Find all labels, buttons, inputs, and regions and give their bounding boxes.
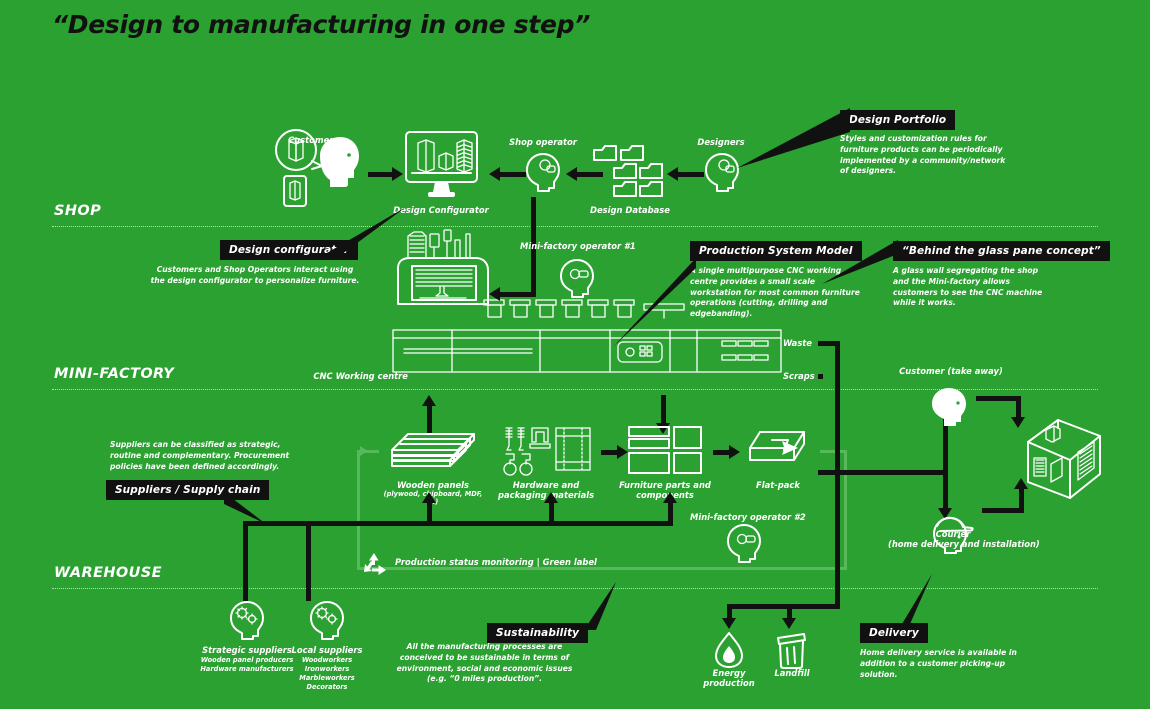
customer-to-house-h	[976, 396, 1021, 401]
customer-to-house-head	[1011, 417, 1025, 428]
cnc-conveyor-base	[392, 329, 782, 373]
delivery-to-courier-v	[943, 470, 948, 512]
mini-factory-operator-1-icon	[555, 256, 597, 300]
customer-takeaway-label: Customer (take away)	[896, 366, 1006, 376]
callout-design-portfolio: Design Portfolio Styles and customizatio…	[840, 108, 1010, 177]
infographic-canvas: “Design to manufacturing in one step” SH…	[0, 0, 1150, 709]
supplier-strategic-v	[243, 521, 248, 601]
zone-divider-shop	[52, 226, 1098, 227]
supplier-to-panels-v	[427, 500, 432, 526]
scraps-line-h	[818, 374, 823, 379]
wooden-panels-icon	[388, 428, 478, 476]
callout-delivery-pointer	[900, 572, 934, 626]
strategic-suppliers-line-2: Hardware manufacturers	[198, 665, 296, 673]
arrow-config-to-cnc-h	[500, 292, 536, 297]
hardware-packaging-label-1: Hardware and	[498, 480, 594, 490]
zone-label-shop: SHOP	[54, 203, 101, 219]
landfill-label: Landfill	[762, 668, 822, 678]
callout-design-configurator-body: Customers and Shop Operators interact us…	[150, 265, 360, 287]
cnc-label: CNC Working centre	[298, 371, 408, 381]
supplier-to-parts-head	[663, 492, 677, 503]
recycle-icon	[361, 552, 389, 578]
supply-loop-bottom-h	[357, 567, 847, 570]
shop-operator-icon	[521, 150, 563, 194]
courier-label-2: (home delivery and installation)	[888, 539, 1018, 549]
scraps-label: Scraps	[783, 371, 833, 381]
callout-sustainability-pointer	[570, 580, 618, 632]
strategic-suppliers-label: Strategic suppliers	[202, 645, 292, 655]
local-suppliers-line-2: Ironworkers	[286, 665, 368, 673]
customer-takeaway-icon	[928, 385, 970, 427]
shop-operator-label: Shop operator	[498, 137, 588, 147]
energy-production-icon	[710, 630, 748, 670]
arrow-operator-to-configurator-head	[489, 167, 500, 181]
local-suppliers-line-4: Decorators	[286, 683, 368, 691]
arrow-customer-to-configurator-line	[368, 172, 394, 177]
wooden-panels-label: Wooden panels	[383, 480, 483, 490]
mini-factory-operator-2-label: Mini-factory operator #2	[690, 512, 800, 522]
furniture-parts-icon	[627, 425, 703, 477]
mini-factory-operator-2-icon	[722, 521, 764, 565]
production-status-monitoring-label: Production status monitoring | Green lab…	[395, 557, 615, 567]
design-database-icon	[592, 142, 664, 200]
customer-label: Customer	[288, 135, 378, 145]
callout-production-system-model-pointer	[612, 256, 698, 348]
design-configurator-icon	[404, 130, 479, 202]
arrow-database-to-operator-head	[566, 167, 577, 181]
callout-design-portfolio-title: Design Portfolio	[840, 110, 955, 130]
callout-sustainability-body: All the manufacturing processes are conc…	[392, 642, 577, 685]
courier-to-house-h	[982, 508, 1024, 513]
supply-loop-left-v	[357, 450, 360, 570]
callout-design-portfolio-pointer	[735, 106, 850, 168]
supplier-to-parts-v	[668, 500, 673, 526]
callout-design-portfolio-body: Styles and customization rules for furni…	[840, 134, 1010, 177]
callout-glass-pane-body: A glass wall segregating the shop and th…	[893, 266, 1051, 309]
courier-label-1: Courier	[898, 529, 1008, 539]
supply-loop-entry-h	[357, 450, 379, 453]
callout-delivery-body: Home delivery service is available in ad…	[860, 648, 1045, 680]
energy-production-label-2: production	[696, 678, 762, 688]
arrow-cnc-to-parts-line	[661, 395, 666, 425]
zone-label-mini-factory: MINI-FACTORY	[54, 366, 174, 382]
callout-delivery-title: Delivery	[860, 623, 928, 643]
supplier-local-v	[306, 521, 311, 601]
callout-delivery: Delivery Home delivery service is availa…	[860, 621, 1045, 680]
strategic-suppliers-icon	[224, 598, 268, 642]
mini-factory-operator-1-label: Mini-factory operator #1	[520, 241, 635, 251]
local-suppliers-icon	[304, 598, 348, 642]
arrow-panels-to-cnc-head	[422, 395, 436, 406]
supplier-to-hardware-v	[549, 500, 554, 526]
callout-glass-pane-pointer	[820, 236, 900, 286]
flat-pack-label: Flat-pack	[738, 480, 818, 490]
callout-glass-pane: “Behind the glass pane concept” A glass …	[893, 239, 1051, 309]
supply-loop-top-h	[820, 450, 847, 453]
flat-pack-icon	[744, 428, 812, 476]
landfill-icon	[772, 628, 810, 670]
arrow-parts-to-flatpack-head	[729, 445, 740, 459]
local-suppliers-line-1: Woodworkers	[286, 656, 368, 664]
energy-production-label-1: Energy	[696, 668, 762, 678]
arrow-designers-to-database-head	[667, 167, 678, 181]
energy-drop-head	[722, 618, 736, 629]
suppliers-note: Suppliers can be classified as strategic…	[110, 440, 290, 472]
zone-label-warehouse: WAREHOUSE	[54, 565, 162, 581]
page-title: “Design to manufacturing in one step”	[52, 10, 590, 39]
hardware-packaging-icon	[500, 424, 592, 478]
local-suppliers-line-3: Marbleworkers	[286, 674, 368, 682]
supplier-to-hardware-head	[544, 492, 558, 503]
callout-glass-pane-title: “Behind the glass pane concept”	[893, 241, 1110, 261]
supplier-to-panels-head	[422, 492, 436, 503]
house-icon	[1024, 408, 1104, 498]
waste-line-v	[835, 341, 840, 609]
supply-loop-right-v	[844, 450, 847, 570]
arrow-customer-to-configurator-head	[392, 167, 403, 181]
strategic-suppliers-line-1: Wooden panel producers	[198, 656, 296, 664]
delivery-trunk-h	[818, 470, 948, 475]
local-suppliers-label: Local suppliers	[286, 645, 368, 655]
furniture-parts-label-1: Furniture parts and	[615, 480, 715, 490]
arrow-config-to-cnc-head	[489, 287, 500, 301]
waste-branch-h	[727, 604, 840, 609]
design-database-label: Design Database	[585, 205, 675, 215]
